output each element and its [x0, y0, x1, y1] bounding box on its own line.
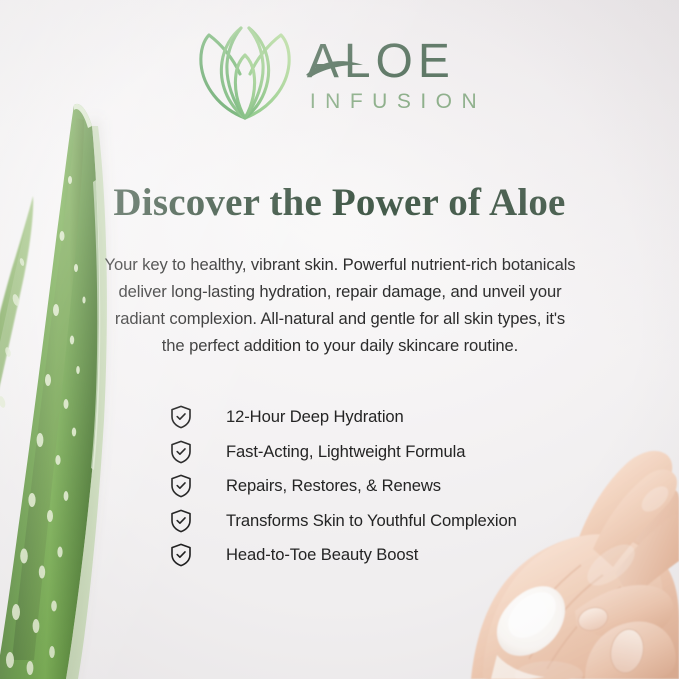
list-item-label: Transforms Skin to Youthful Complexion: [226, 511, 517, 531]
promo-banner: ALOE INFUSION Discover the Power of Aloe…: [0, 0, 679, 679]
shield-check-icon: [168, 439, 194, 465]
list-item-label: Head-to-Toe Beauty Boost: [226, 545, 418, 565]
shield-check-icon: [168, 473, 194, 499]
brand-name-primary: ALOE: [307, 38, 455, 85]
list-item: Head-to-Toe Beauty Boost: [168, 542, 517, 568]
list-item: Repairs, Restores, & Renews: [168, 473, 517, 499]
list-item-label: Fast-Acting, Lightweight Formula: [226, 442, 465, 462]
brand-wordmark: ALOE INFUSION: [307, 34, 486, 113]
shield-check-icon: [168, 542, 194, 568]
list-item: 12-Hour Deep Hydration: [168, 404, 517, 430]
page-title: Discover the Power of Aloe: [0, 180, 679, 225]
shield-check-icon: [168, 508, 194, 534]
brand-name-primary-text: ALOE: [307, 38, 455, 85]
shield-check-icon: [168, 404, 194, 430]
list-item-label: 12-Hour Deep Hydration: [226, 407, 404, 427]
aloe-lotus-leaves-mark: [193, 24, 297, 124]
feature-list: 12-Hour Deep Hydration Fast-Acting, Ligh…: [168, 404, 517, 568]
list-item: Transforms Skin to Youthful Complexion: [168, 508, 517, 534]
brand-logo: ALOE INFUSION: [0, 24, 679, 124]
brand-name-secondary: INFUSION: [310, 90, 486, 114]
description-paragraph: Your key to healthy, vibrant skin. Power…: [103, 251, 577, 360]
list-item-label: Repairs, Restores, & Renews: [226, 476, 441, 496]
list-item: Fast-Acting, Lightweight Formula: [168, 439, 517, 465]
